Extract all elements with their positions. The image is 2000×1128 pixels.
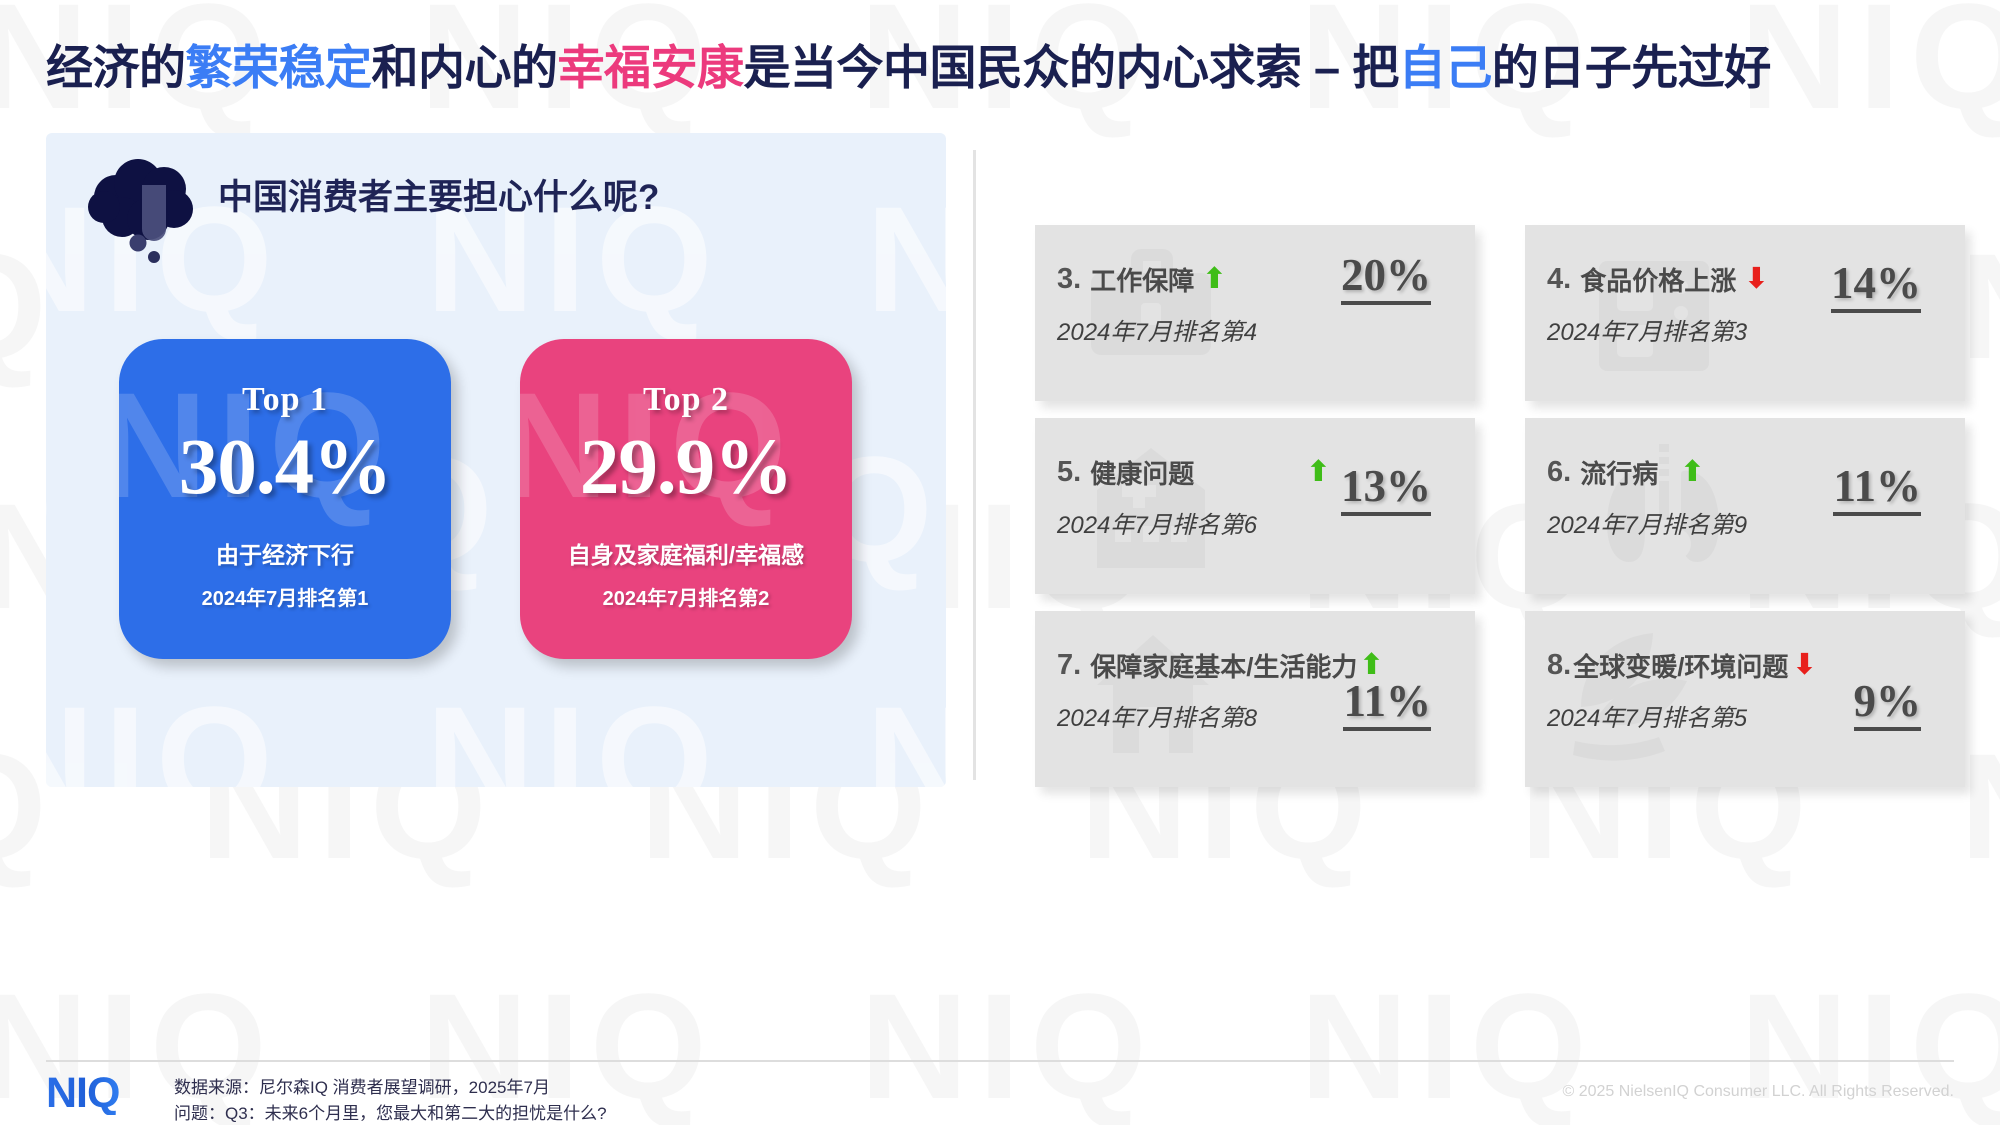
title-segment-0: 经济的 [46, 41, 186, 94]
trend-up-icon: ⬆ [1680, 458, 1704, 487]
concern-card-7-label: 保障家庭基本/生活能力 [1090, 647, 1357, 684]
title-segment-3: 幸福安康 [558, 41, 744, 94]
concern-card-7[interactable]: 7. 保障家庭基本/生活能力 ⬆ 2024年7月排名第8 11% [1035, 611, 1475, 787]
concern-card-4-percent: 14% [1831, 261, 1921, 313]
concern-card-4-previous-rank: 2024年7月排名第3 [1547, 312, 1965, 347]
top-concern-cards: NIQ Top 1 30.4% 由于经济下行 2024年7月排名第1 NIQ T… [46, 339, 946, 659]
left-panel: NIQ NIQ NIQ NIQ NIQ NIQ NIQ NIQ NIQ 中国消费… [46, 133, 946, 787]
title-segment-5: 自己 [1399, 41, 1492, 94]
trend-up-icon: ⬆ [1202, 265, 1226, 294]
concern-card-6-label: 流行病 [1580, 454, 1658, 491]
thought-cloud-icon [76, 155, 206, 275]
footer-copyright: © 2025 NielsenIQ Consumer LLC. All Right… [1562, 1083, 1954, 1101]
watermark-text: NIQ [860, 960, 1157, 1125]
top-card-1-previous-rank: 2024年7月排名第1 [119, 582, 451, 611]
concern-card-7-percent: 11% [1343, 679, 1431, 731]
footer-source: 数据来源：尼尔森IQ 消费者展望调研，2025年7月 问题：Q3：未来6个月里，… [174, 1075, 607, 1128]
top-card-2-description: 自身及家庭福利/幸福感 [520, 536, 852, 570]
top-card-2[interactable]: NIQ Top 2 29.9% 自身及家庭福利/幸福感 2024年7月排名第2 [520, 339, 852, 659]
title-segment-2: 和内心的 [372, 41, 558, 94]
title-segment-4: 是当今中国民众的内心求索 – 把 [744, 41, 1399, 94]
concern-card-5[interactable]: 5. 健康问题 ⬆ 2024年7月排名第6 13% [1035, 418, 1475, 594]
left-panel-heading: 中国消费者主要担心什么呢? [218, 169, 659, 220]
top-card-1[interactable]: NIQ Top 1 30.4% 由于经济下行 2024年7月排名第1 [119, 339, 451, 659]
watermark-text: NIQ [1960, 220, 2000, 393]
trend-down-icon: ⬇ [1792, 651, 1816, 680]
top-card-2-rank: Top 2 [520, 381, 852, 419]
panel-divider [973, 150, 976, 780]
concern-card-4[interactable]: 4. 食品价格上涨 ⬇ 2024年7月排名第3 14% [1525, 225, 1965, 401]
top-card-1-description: 由于经济下行 [119, 536, 451, 570]
concern-card-4-rank: 4. [1547, 263, 1571, 296]
footer-source-line-1: 数据来源：尼尔森IQ 消费者展望调研，2025年7月 [174, 1075, 607, 1101]
concern-card-8-percent: 9% [1854, 679, 1922, 731]
concern-card-3-previous-rank: 2024年7月排名第4 [1057, 312, 1475, 347]
concern-card-3-rank: 3. [1057, 263, 1081, 296]
watermark-text: NIQ [1960, 720, 2000, 893]
concern-card-3-percent: 20% [1341, 253, 1431, 305]
concern-card-5-rank: 5. [1057, 456, 1081, 489]
concern-card-3-label: 工作保障 [1090, 261, 1194, 298]
concern-card-8-rank: 8. [1547, 649, 1571, 682]
concern-card-6-rank: 6. [1547, 456, 1571, 489]
footer-source-line-2: 问题：Q3：未来6个月里，您最大和第二大的担忧是什么? [174, 1101, 607, 1127]
concern-card-6[interactable]: 6. 流行病 ⬆ 2024年7月排名第9 11% [1525, 418, 1965, 594]
concern-card-8[interactable]: 8. 全球变暖/环境问题 ⬇ 2024年7月排名第5 9% [1525, 611, 1965, 787]
title-segment-1: 繁荣稳定 [186, 41, 372, 94]
concern-card-3[interactable]: 3. 工作保障 ⬆ 2024年7月排名第4 20% [1035, 225, 1475, 401]
watermark-text: NIQ [46, 673, 283, 787]
top-card-2-previous-rank: 2024年7月排名第2 [520, 582, 852, 611]
watermark-text: NIQ [1300, 960, 1597, 1125]
trend-up-icon: ⬆ [1306, 458, 1330, 487]
concern-card-5-percent: 13% [1341, 464, 1431, 516]
concern-card-4-label: 食品价格上涨 [1580, 261, 1736, 298]
footer-divider [46, 1060, 1954, 1062]
concern-card-5-label: 健康问题 [1090, 454, 1194, 491]
concern-card-7-rank: 7. [1057, 649, 1081, 682]
top-card-2-percent: 29.9% [520, 427, 852, 510]
top-card-1-percent: 30.4% [119, 427, 451, 510]
page-title: 经济的繁荣稳定和内心的幸福安康是当今中国民众的内心求索 – 把自己的日子先过好 [46, 36, 1966, 100]
title-segment-6: 的日子先过好 [1492, 41, 1771, 94]
watermark-text: NIQ [866, 673, 946, 787]
top-card-1-rank: Top 1 [119, 381, 451, 419]
right-panel: 3. 工作保障 ⬆ 2024年7月排名第4 20% 4. 食品价格上涨 ⬇ [1035, 225, 1965, 785]
niq-logo: NIQ [46, 1072, 119, 1115]
watermark-text: NIQ [426, 673, 723, 787]
concern-card-8-label: 全球变暖/环境问题 [1573, 647, 1788, 684]
concern-card-6-percent: 11% [1833, 464, 1921, 516]
trend-down-icon: ⬇ [1744, 265, 1768, 294]
watermark-text: NIQ [866, 173, 946, 346]
